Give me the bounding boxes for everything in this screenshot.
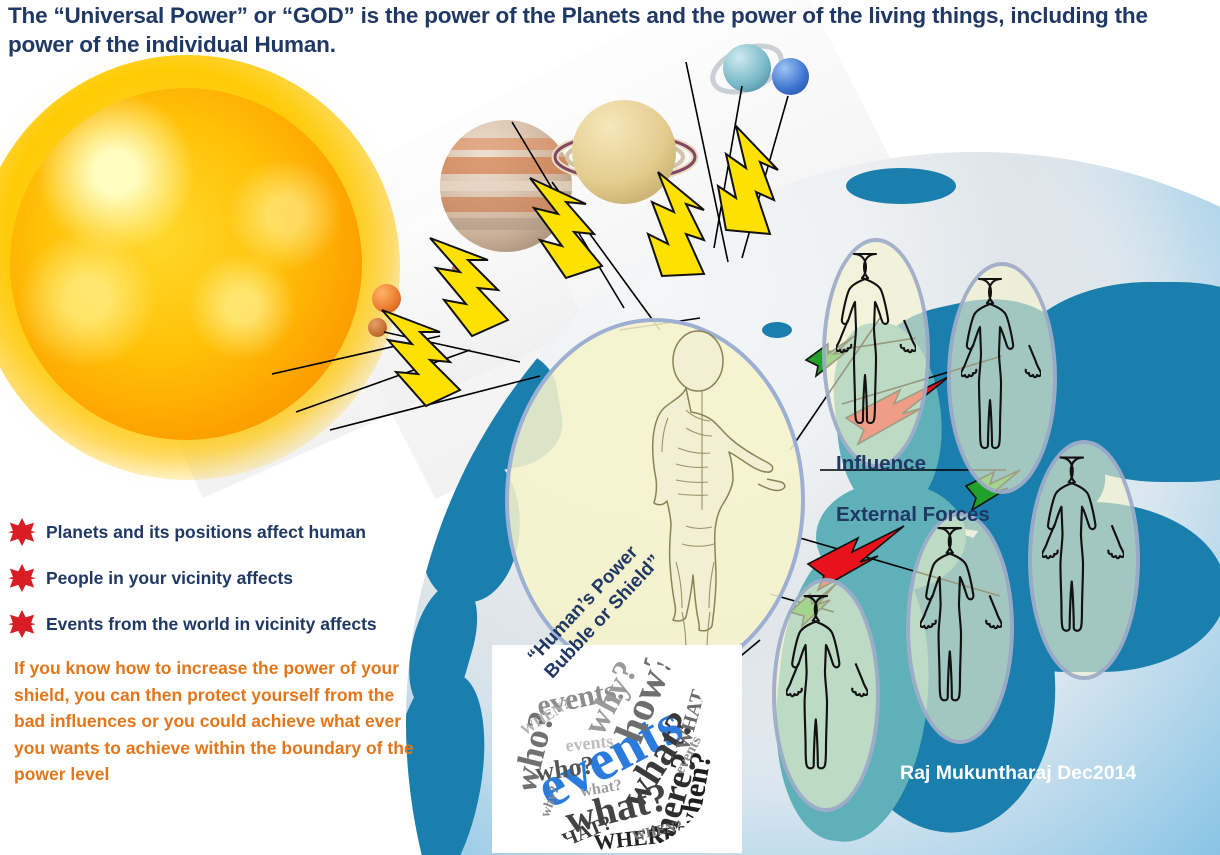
shield-power-paragraph: If you know how to increase the power of… — [14, 655, 414, 788]
list-item-label: Planets and its positions affect human — [46, 522, 366, 543]
six-point-star-icon — [8, 610, 36, 638]
list-item: People in your vicinity affects — [8, 564, 377, 592]
six-point-star-icon — [8, 518, 36, 546]
page-title: The “Universal Power” or “GOD” is the po… — [8, 2, 1198, 60]
bullet-list: Planets and its positions affect human P… — [8, 518, 377, 656]
list-item: Events from the world in vicinity affect… — [8, 610, 377, 638]
six-point-star-icon — [8, 564, 36, 592]
person-figure-4 — [920, 522, 1002, 736]
slide-canvas: events events. how? why? who? who? what?… — [0, 0, 1220, 855]
list-item-label: Events from the world in vicinity affect… — [46, 614, 377, 635]
person-figure-1 — [836, 248, 916, 458]
external-forces-label: External Forces — [836, 503, 990, 527]
events-word-cloud: events events. how? why? who? who? what?… — [492, 645, 742, 853]
person-figure-5 — [786, 590, 868, 804]
person-figure-3 — [1042, 450, 1124, 668]
list-item: Planets and its positions affect human — [8, 518, 377, 546]
influence-label: Influence — [836, 452, 926, 476]
person-figure-2 — [961, 272, 1041, 484]
list-item-label: People in your vicinity affects — [46, 568, 293, 589]
author-credit: Raj Mukuntharaj Dec2014 — [900, 762, 1136, 785]
